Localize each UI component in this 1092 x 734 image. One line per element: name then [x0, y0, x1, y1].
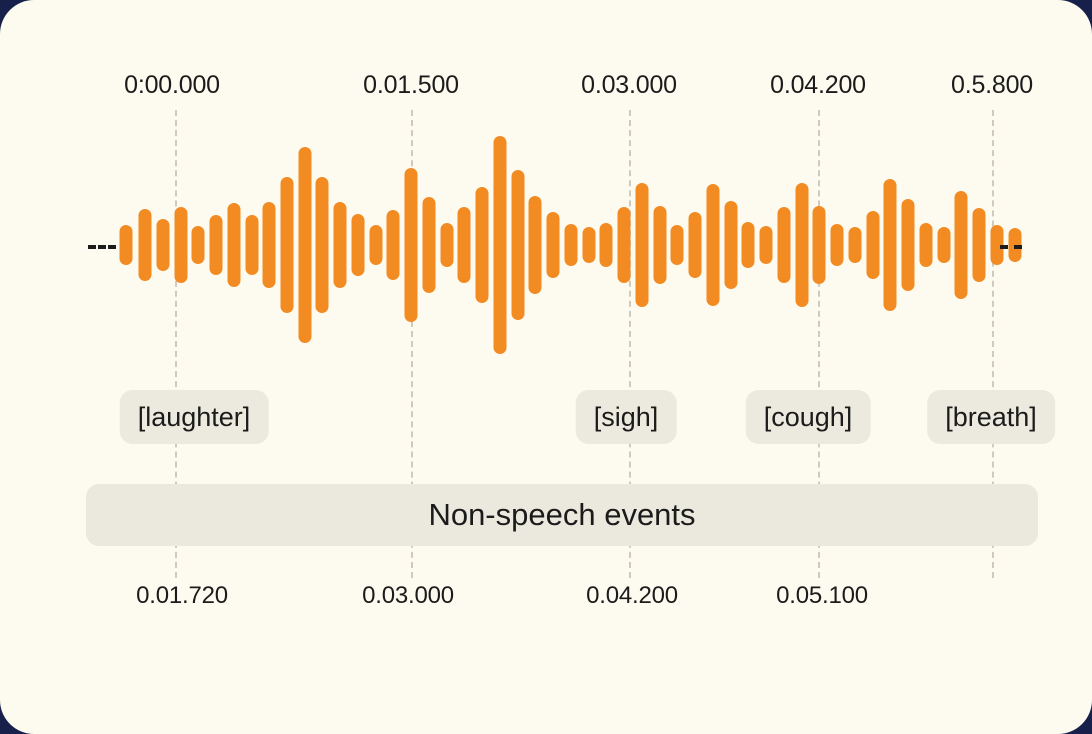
waveform-bar	[422, 197, 435, 293]
waveform-bar	[600, 223, 613, 267]
timestamp-top-0: 0:00.000	[124, 71, 220, 100]
timestamp-bottom-2: 0.04.200	[586, 582, 678, 610]
waveform-bar	[458, 207, 471, 283]
waveform-bar	[866, 211, 879, 279]
waveform-bar	[831, 224, 844, 266]
waveform-bar	[618, 207, 631, 283]
waveform-bar	[653, 206, 666, 284]
waveform-bar	[671, 225, 684, 265]
waveform-bar	[777, 207, 790, 283]
timestamp-top-3: 0.04.200	[770, 71, 866, 100]
waveform-bar	[973, 208, 986, 282]
event-chip-sigh[interactable]: [sigh]	[576, 390, 677, 444]
waveform-bar	[192, 226, 205, 264]
waveform-bar	[476, 187, 489, 303]
waveform-bar	[316, 177, 329, 313]
waveform-bar	[795, 183, 808, 307]
timestamp-bottom-1: 0.03.000	[362, 582, 454, 610]
waveform-bar	[351, 214, 364, 276]
waveform-bar	[813, 206, 826, 284]
waveform-bar	[564, 224, 577, 266]
waveform-bar	[547, 212, 560, 278]
waveform-bar	[263, 202, 276, 288]
audio-waveform[interactable]	[118, 120, 998, 370]
audio-annotation-card: 0:00.0000.01.5000.03.0000.04.2000.5.800 …	[0, 0, 1092, 734]
waveform-bar	[156, 219, 169, 271]
event-chip-cough[interactable]: [cough]	[746, 390, 871, 444]
waveform-bar	[529, 196, 542, 294]
waveform-bar	[440, 223, 453, 267]
waveform-bar	[689, 212, 702, 278]
waveform-bar	[582, 227, 595, 263]
timestamp-top-2: 0.03.000	[581, 71, 677, 100]
waveform-bar	[120, 225, 133, 265]
waveform-bar	[210, 215, 223, 275]
waveform-bar	[493, 136, 506, 354]
waveform-bar	[139, 209, 152, 281]
waveform-bar	[848, 227, 861, 263]
waveform-bar	[884, 179, 897, 311]
waveform-bar	[724, 201, 737, 289]
timestamp-top-1: 0.01.500	[363, 71, 459, 100]
waveform-bar	[511, 170, 524, 320]
waveform-bar	[174, 207, 187, 283]
waveform-bar	[760, 226, 773, 264]
waveform-bar	[387, 210, 400, 280]
waveform-bar	[281, 177, 294, 313]
waveform-bar	[334, 202, 347, 288]
waveform-bar	[298, 147, 311, 343]
timestamp-top-4: 0.5.800	[951, 71, 1033, 100]
waveform-bar	[937, 227, 950, 263]
non-speech-events-track-label: Non-speech events	[428, 497, 695, 533]
timestamp-bottom-3: 0.05.100	[776, 582, 868, 610]
waveform-bar	[742, 222, 755, 268]
waveform-bar	[405, 168, 418, 322]
waveform-bar	[635, 183, 648, 307]
waveform-bar	[902, 199, 915, 291]
waveform-bar	[919, 223, 932, 267]
waveform-bar	[955, 191, 968, 299]
event-chip-laughter[interactable]: [laughter]	[120, 390, 269, 444]
waveform-bar	[369, 225, 382, 265]
event-chip-breath[interactable]: [breath]	[927, 390, 1055, 444]
waveform-axis-dash-left	[88, 245, 116, 249]
waveform-bar	[245, 215, 258, 275]
waveform-axis-dash-right	[1000, 245, 1022, 249]
waveform-bar	[706, 184, 719, 306]
non-speech-events-track[interactable]: Non-speech events	[86, 484, 1038, 546]
timestamp-bottom-0: 0.01.720	[136, 582, 228, 610]
waveform-bar	[227, 203, 240, 287]
